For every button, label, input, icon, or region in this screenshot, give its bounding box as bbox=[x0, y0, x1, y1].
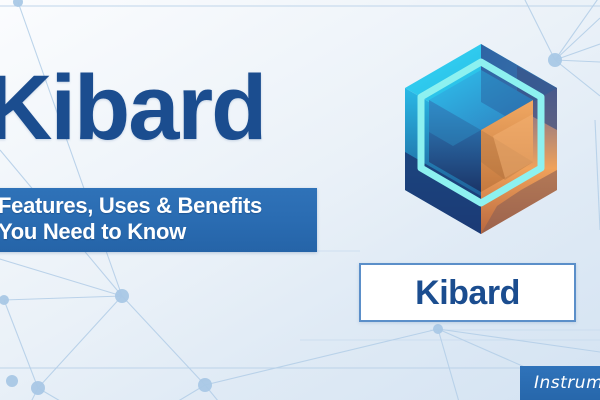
product-name-box: Kibard bbox=[359, 263, 576, 322]
subtitle-line-1: Features, Uses & Benefits bbox=[0, 193, 262, 219]
source-badge-label: Instrumen bbox=[520, 373, 600, 393]
page-title: Kibard bbox=[0, 62, 265, 154]
promo-banner: Kibard Features, Uses & Benefits You Nee… bbox=[0, 0, 600, 400]
product-name-label: Kibard bbox=[415, 276, 520, 310]
subtitle-banner: Features, Uses & Benefits You Need to Kn… bbox=[0, 188, 317, 252]
subtitle-line-2: You Need to Know bbox=[0, 219, 186, 245]
hexagon-cube-logo-icon bbox=[393, 40, 569, 238]
source-badge: Instrumen bbox=[520, 366, 600, 400]
